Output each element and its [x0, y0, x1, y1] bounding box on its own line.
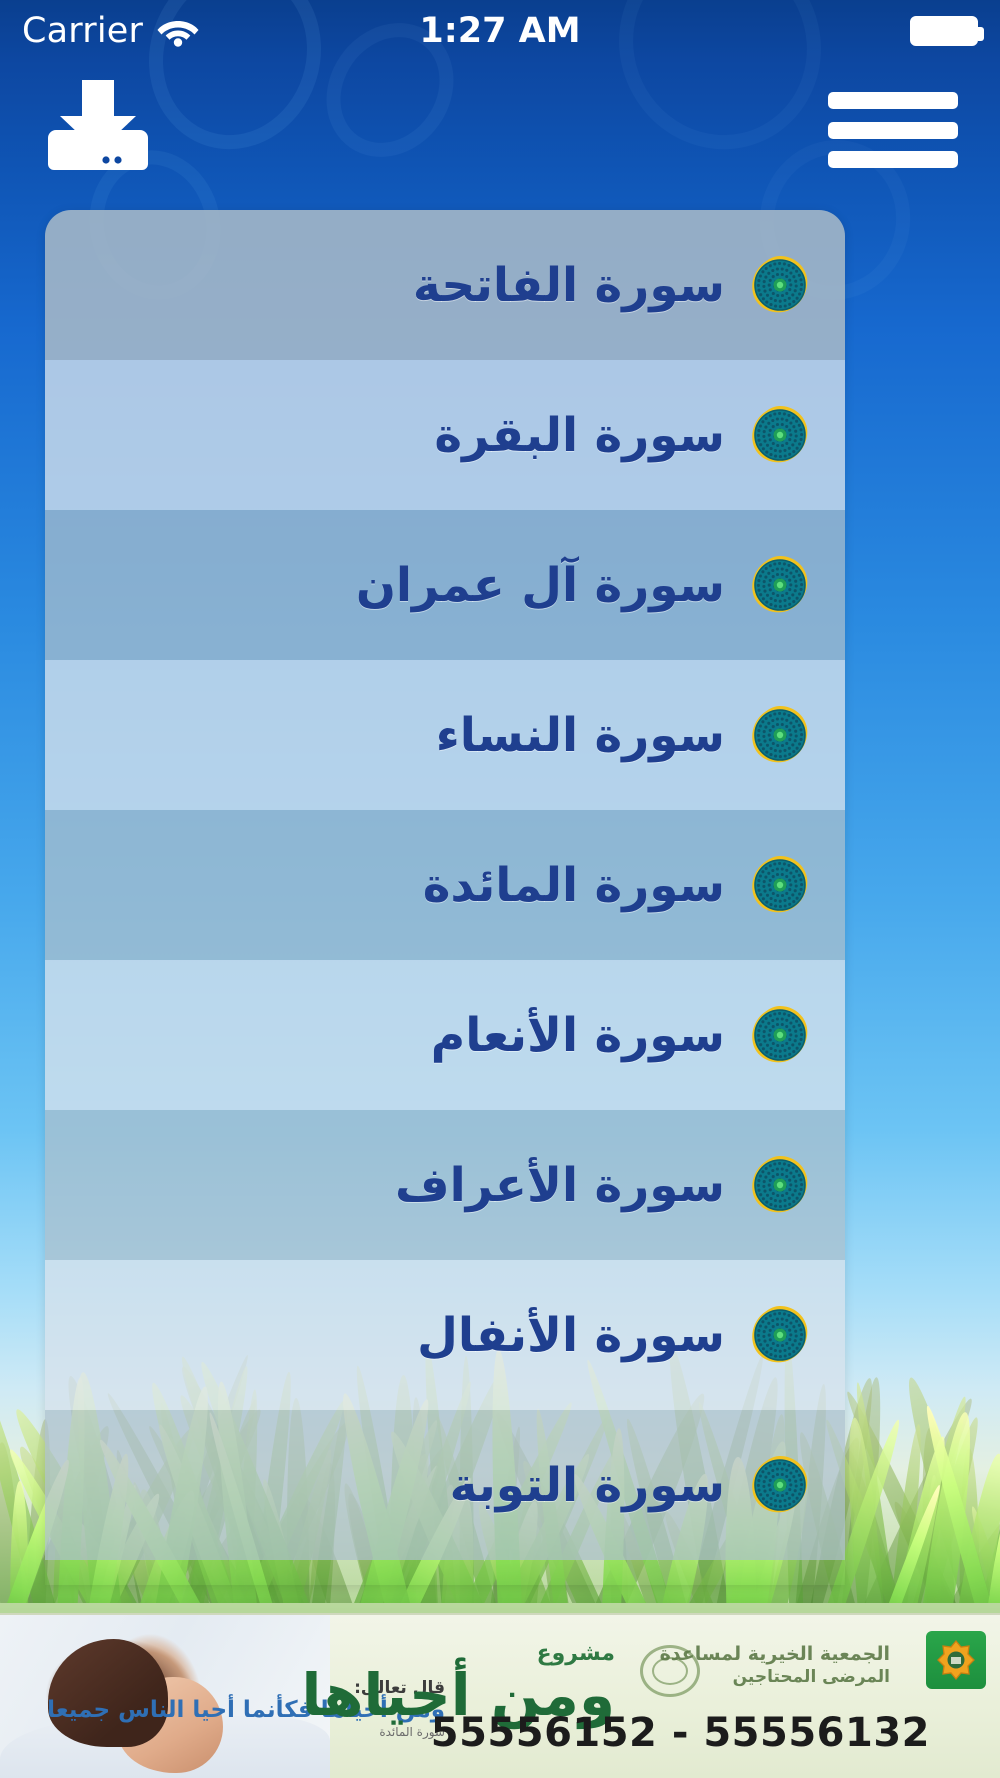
surah-name-label: سورة التوبة: [450, 1458, 725, 1513]
quran-rosette-icon: [749, 554, 811, 616]
quran-rosette-icon: [749, 1304, 811, 1366]
ad-org-line-1: الجمعية الخيرية لمساعدة: [660, 1643, 890, 1667]
surah-list-item[interactable]: سورة الأنعام: [45, 960, 845, 1110]
charity-emblem-icon: [926, 1631, 986, 1689]
quran-rosette-icon: [749, 1454, 811, 1516]
hamburger-menu-icon[interactable]: [828, 92, 958, 168]
wifi-icon: [157, 15, 199, 47]
surah-list-item[interactable]: سورة التوبة: [45, 1410, 845, 1560]
surah-list-item[interactable]: سورة الفاتحة: [45, 210, 845, 360]
surah-list-item[interactable]: سورة الأنفال: [45, 1260, 845, 1410]
status-bar: Carrier 1:27 AM: [0, 0, 1000, 62]
surah-name-label: سورة الفاتحة: [413, 258, 725, 313]
quran-rosette-icon: [749, 1004, 811, 1066]
advertisement-banner[interactable]: قال تعالى: ومن أحياها فكأنما أحيا الناس …: [0, 1613, 1000, 1778]
surah-name-label: سورة الأنفال: [417, 1308, 725, 1363]
surah-list[interactable]: سورة الفاتحة سورة البقرة سورة آل عمران س…: [45, 210, 845, 1585]
surah-name-label: سورة آل عمران: [356, 558, 725, 613]
navigation-bar: [0, 62, 1000, 190]
surah-name-label: سورة المائدة: [423, 858, 725, 913]
battery-icon: [910, 16, 978, 46]
surah-name-label: سورة النساء: [436, 708, 725, 763]
surah-name-label: سورة الأنعام: [431, 1008, 725, 1063]
surah-list-item[interactable]: سورة البقرة: [45, 360, 845, 510]
ad-org-line-2: المرضى المحتاجين: [660, 1667, 890, 1688]
quran-rosette-icon: [749, 704, 811, 766]
download-icon[interactable]: [42, 78, 154, 170]
surah-list-item[interactable]: سورة المائدة: [45, 810, 845, 960]
ad-phone-number[interactable]: 55556152 - 55556132: [431, 1710, 930, 1756]
surah-list-item[interactable]: سورة آل عمران: [45, 510, 845, 660]
carrier-label: Carrier: [22, 11, 143, 51]
quran-rosette-icon: [749, 404, 811, 466]
ad-organization-name: الجمعية الخيرية لمساعدة المرضى المحتاجين: [660, 1643, 890, 1688]
surah-list-item[interactable]: سورة الأعراف: [45, 1110, 845, 1260]
quran-rosette-icon: [749, 854, 811, 916]
surah-name-label: سورة البقرة: [434, 408, 725, 463]
surah-name-label: سورة الأعراف: [395, 1158, 725, 1213]
surah-list-item[interactable]: سورة النساء: [45, 660, 845, 810]
quran-rosette-icon: [749, 254, 811, 316]
app-root: Carrier 1:27 AM سورة الفاتحة: [0, 0, 1000, 1778]
quran-rosette-icon: [749, 1154, 811, 1216]
